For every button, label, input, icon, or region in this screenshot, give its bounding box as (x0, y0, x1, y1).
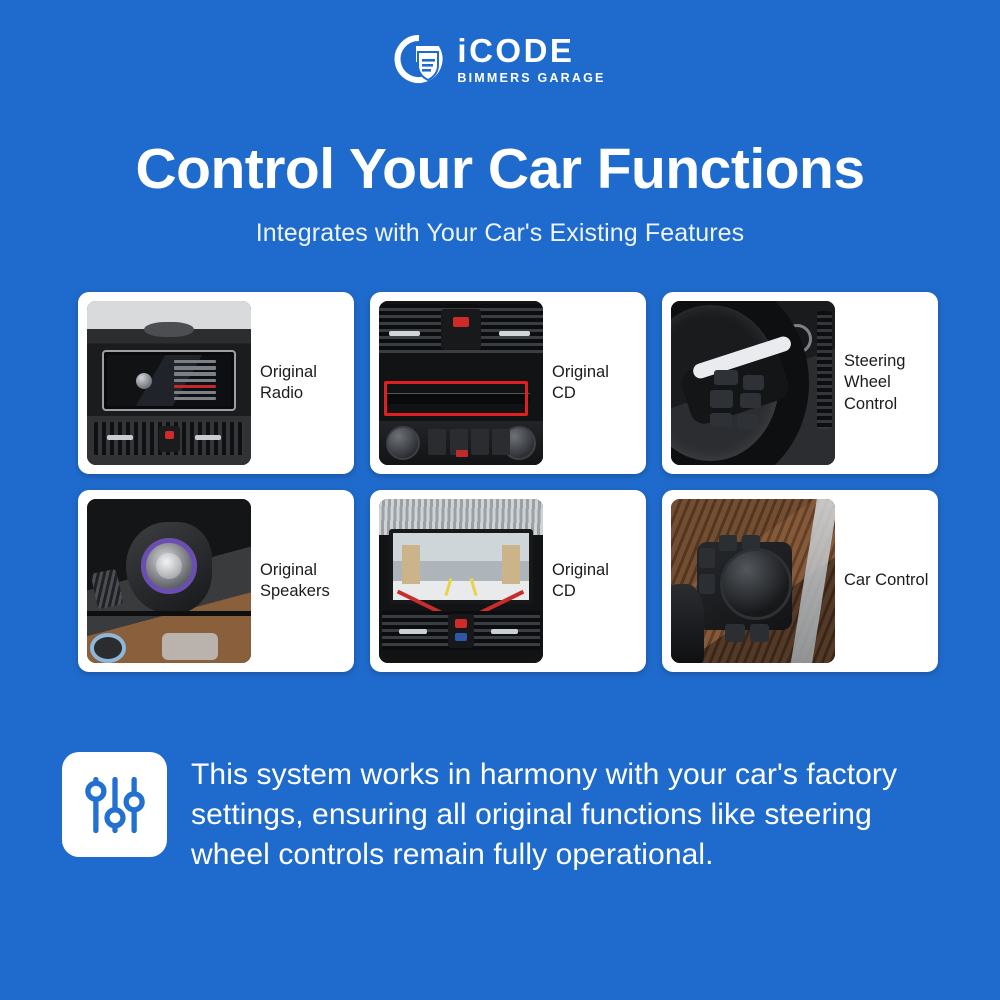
hero-text-block: Control Your Car Functions Integrates wi… (0, 140, 1000, 248)
brand-tagline: BIMMERS GARAGE (457, 72, 605, 85)
footer-callout: This system works in harmony with your c… (62, 752, 940, 875)
brand-logo[interactable]: iCODE BIMMERS GARAGE (394, 34, 605, 85)
brand-logo-text: iCODE BIMMERS GARAGE (457, 34, 605, 85)
page-title: Control Your Car Functions (0, 140, 1000, 200)
reverse-camera-screen-photo (379, 499, 543, 663)
car-cd-slot-highlighted-photo (379, 301, 543, 465)
car-head-unit-radio-screen-photo (87, 301, 251, 465)
feature-label: Original CD (552, 560, 637, 602)
feature-card-steering-wheel-control[interactable]: Steering Wheel Control (662, 292, 938, 474)
steering-wheel-buttons-photo (671, 301, 835, 465)
feature-label: Steering Wheel Control (844, 351, 929, 414)
brand-name: iCODE (457, 34, 605, 67)
feature-card-original-cd-screen[interactable]: Original CD (370, 490, 646, 672)
feature-card-original-radio[interactable]: Original Radio (78, 292, 354, 474)
red-highlight-box (384, 381, 528, 415)
feature-label: Original Speakers (260, 560, 345, 602)
page-subtitle: Integrates with Your Car's Existing Feat… (0, 219, 1000, 248)
shield-circle-logo-icon (394, 34, 444, 84)
feature-label: Original CD (552, 362, 637, 404)
feature-card-grid: Original Radio Original CD (78, 292, 922, 672)
footer-description: This system works in harmony with your c… (191, 752, 940, 875)
feature-card-original-speakers[interactable]: Original Speakers (78, 490, 354, 672)
feature-card-car-control[interactable]: Car Control (662, 490, 938, 672)
sliders-equalizer-icon (62, 752, 167, 857)
feature-card-original-cd-slot[interactable]: Original CD (370, 292, 646, 474)
feature-label: Car Control (844, 570, 929, 591)
brand-header: iCODE BIMMERS GARAGE (0, 0, 1000, 118)
tweeter-speaker-photo (87, 499, 251, 663)
feature-label: Original Radio (260, 362, 345, 404)
idrive-rotary-controller-photo (671, 499, 835, 663)
